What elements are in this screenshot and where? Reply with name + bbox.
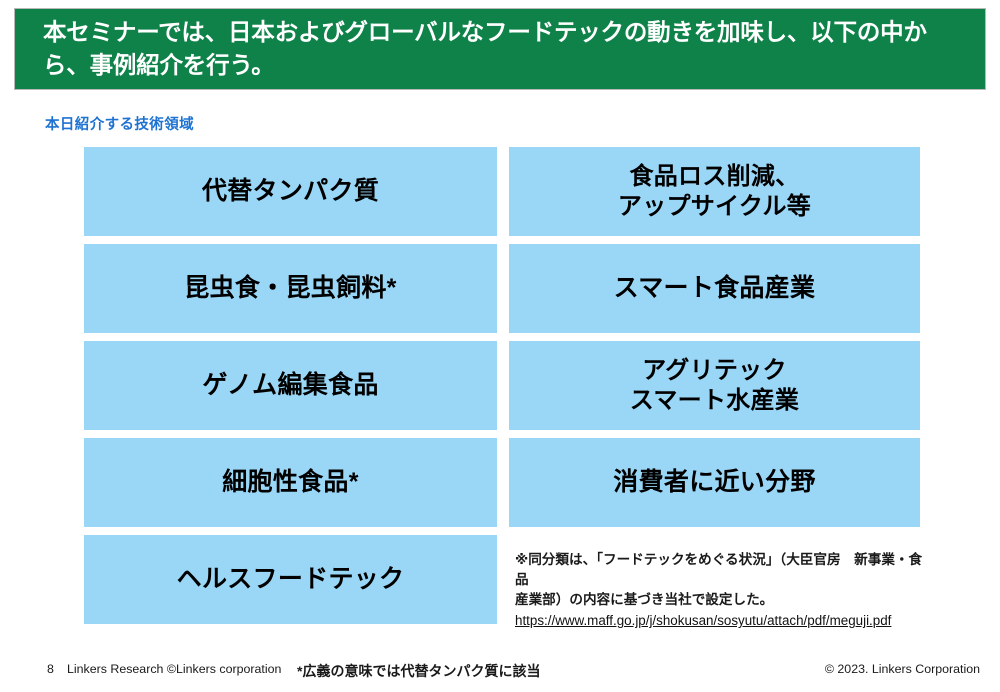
footer-organization: Linkers Research ©Linkers corporation xyxy=(67,662,281,676)
slide-canvas: 本セミナーでは、日本およびグローバルなフードテックの動きを加味し、以下の中か ら… xyxy=(0,0,1000,692)
tech-box-label: 消費者に近い分野 xyxy=(613,467,815,498)
source-note-link[interactable]: https://www.maff.go.jp/j/shokusan/sosyut… xyxy=(515,611,927,631)
tech-box-label: 食品ロス削減、 アップサイクル等 xyxy=(618,162,811,221)
tech-box-right-4[interactable]: 消費者に近い分野 xyxy=(509,438,920,527)
source-note: ※同分類は、「フードテックをめぐる状況」（大臣官房 新事業・食品 産業部）の内容… xyxy=(515,550,927,631)
tech-box-left-5[interactable]: ヘルスフードテック xyxy=(84,535,497,624)
tech-box-left-2[interactable]: 昆虫食・昆虫飼料* xyxy=(84,244,497,333)
tech-box-label: ヘルスフードテック xyxy=(177,564,405,595)
tech-box-right-2[interactable]: スマート食品産業 xyxy=(509,244,920,333)
header-title: 本セミナーでは、日本およびグローバルなフードテックの動きを加味し、以下の中か ら… xyxy=(15,16,949,83)
footer-asterisk-note: *広義の意味では代替タンパク質に該当 xyxy=(297,661,540,681)
slide-footer: 8 Linkers Research ©Linkers corporation … xyxy=(0,662,1000,684)
header-banner: 本セミナーでは、日本およびグローバルなフードテックの動きを加味し、以下の中か ら… xyxy=(14,8,986,90)
tech-box-label: 代替タンパク質 xyxy=(202,176,379,207)
source-note-text: ※同分類は、「フードテックをめぐる状況」（大臣官房 新事業・食品 産業部）の内容… xyxy=(515,550,927,610)
tech-column-right: 食品ロス削減、 アップサイクル等 スマート食品産業 アグリテック スマート水産業… xyxy=(509,147,920,527)
tech-box-right-3[interactable]: アグリテック スマート水産業 xyxy=(509,341,920,430)
footer-copyright: © 2023. Linkers Corporation xyxy=(825,662,980,676)
tech-box-left-1[interactable]: 代替タンパク質 xyxy=(84,147,497,236)
tech-box-label: 細胞性食品* xyxy=(222,467,359,498)
tech-box-label: スマート食品産業 xyxy=(614,273,816,304)
tech-box-label: ゲノム編集食品 xyxy=(202,370,378,401)
footer-page-number: 8 xyxy=(47,662,54,676)
tech-box-label: アグリテック スマート水産業 xyxy=(630,356,799,415)
tech-box-left-3[interactable]: ゲノム編集食品 xyxy=(84,341,497,430)
tech-box-label: 昆虫食・昆虫飼料* xyxy=(184,273,396,304)
tech-column-left: 代替タンパク質 昆虫食・昆虫飼料* ゲノム編集食品 細胞性食品* ヘルスフードテ… xyxy=(84,147,497,624)
section-subtitle: 本日紹介する技術領域 xyxy=(45,113,194,134)
tech-box-right-1[interactable]: 食品ロス削減、 アップサイクル等 xyxy=(509,147,920,236)
tech-box-left-4[interactable]: 細胞性食品* xyxy=(84,438,497,527)
